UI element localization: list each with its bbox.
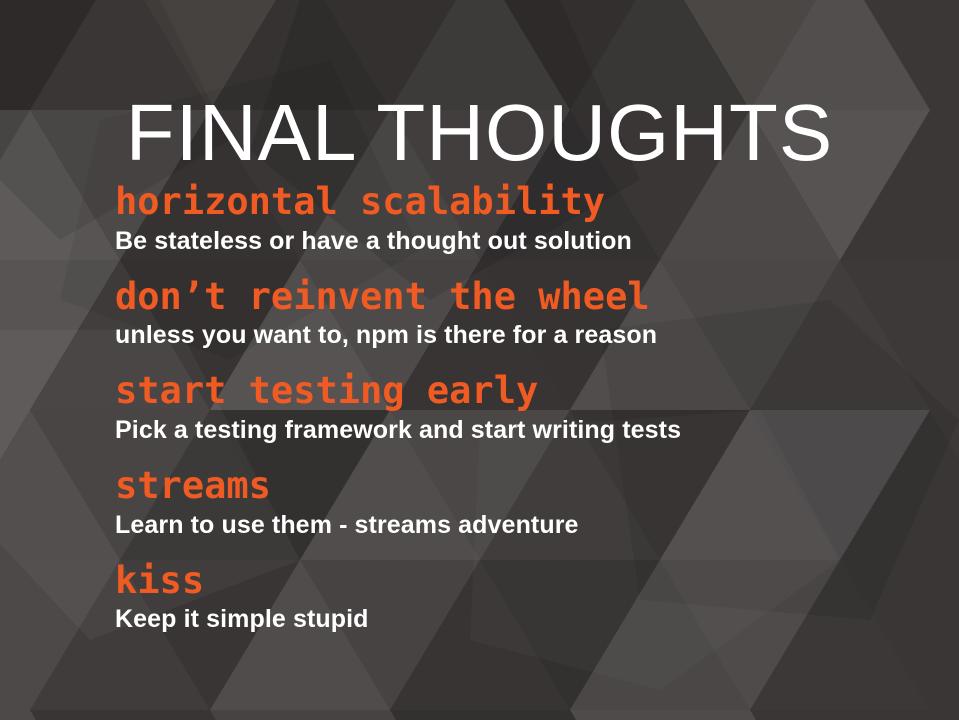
point-subtitle-streams: Learn to use them - streams adventure — [115, 510, 935, 541]
point-heading-dont-reinvent-the-wheel: don’t reinvent the wheel — [115, 275, 935, 319]
presentation-slide: FINAL THOUGHTS horizontal scalability Be… — [0, 0, 959, 720]
point-subtitle-start-testing-early: Pick a testing framework and start writi… — [115, 415, 935, 446]
point-heading-streams: streams — [115, 464, 935, 508]
point-subtitle-kiss: Keep it simple stupid — [115, 604, 935, 635]
list-item: horizontal scalability Be stateless or h… — [115, 180, 935, 256]
list-item: streams Learn to use them - streams adve… — [115, 464, 935, 540]
page-title: FINAL THOUGHTS — [0, 92, 959, 174]
list-item: don’t reinvent the wheel unless you want… — [115, 275, 935, 351]
slide-content: FINAL THOUGHTS horizontal scalability Be… — [0, 0, 959, 720]
point-heading-start-testing-early: start testing early — [115, 369, 935, 413]
point-subtitle-dont-reinvent-the-wheel: unless you want to, npm is there for a r… — [115, 320, 935, 351]
list-item: start testing early Pick a testing frame… — [115, 369, 935, 445]
point-heading-horizontal-scalability: horizontal scalability — [115, 180, 935, 224]
list-item: kiss Keep it simple stupid — [115, 559, 935, 635]
point-subtitle-horizontal-scalability: Be stateless or have a thought out solut… — [115, 226, 935, 257]
final-thoughts-list: horizontal scalability Be stateless or h… — [115, 180, 935, 653]
point-heading-kiss: kiss — [115, 559, 935, 603]
